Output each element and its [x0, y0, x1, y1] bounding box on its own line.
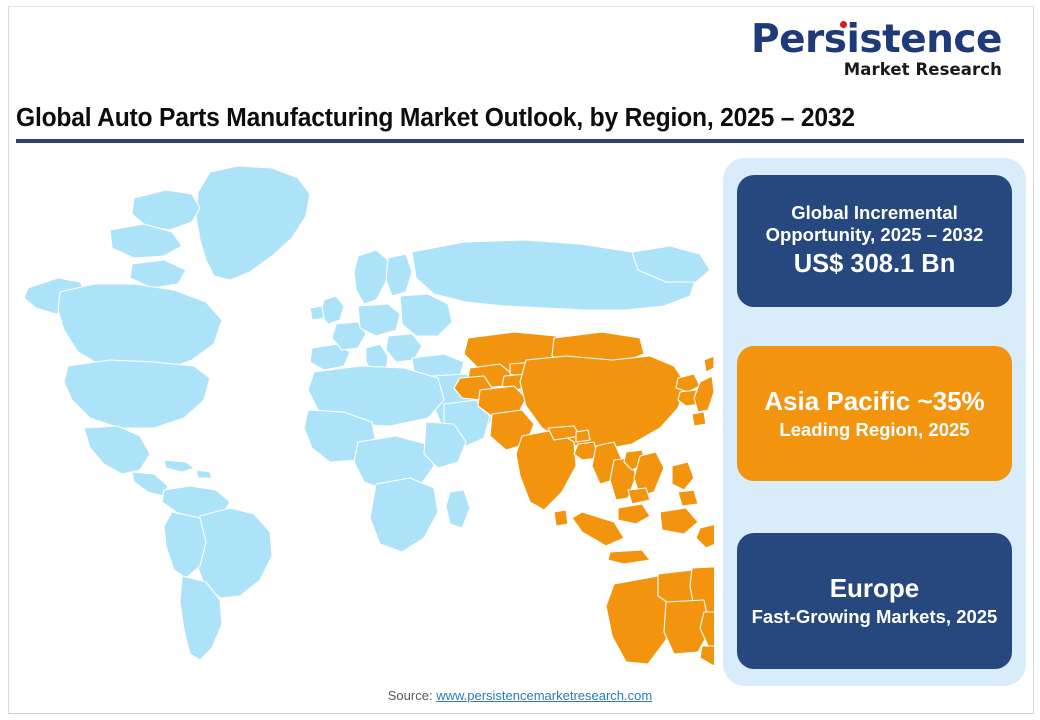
infographic-slide: Persistence Market Research Global Auto … [0, 0, 1040, 720]
country-mexico [84, 426, 150, 474]
country-cambodia [628, 488, 650, 504]
logo-red-dot-icon [840, 21, 847, 28]
logo-wordmark: Persistence [751, 20, 1002, 59]
kpi-panel: Global Incremental Opportunity, 2025 – 2… [723, 158, 1026, 686]
country-bhutan [576, 430, 590, 442]
country-india [516, 430, 576, 510]
title-block: Global Auto Parts Manufacturing Market O… [16, 104, 1026, 143]
country-japan [704, 356, 714, 372]
kpi-card-leading-region: Asia Pacific ~35% Leading Region, 2025 [737, 346, 1012, 481]
company-logo: Persistence Market Research [751, 20, 1002, 79]
country-indonesia-sumatra [572, 512, 624, 546]
country-norway-sweden [354, 250, 388, 304]
kpi-card-value: US$ 308.1 Bn [794, 249, 956, 280]
country-central-america [132, 472, 168, 496]
country-malaysia [618, 504, 650, 524]
country-uk [320, 296, 344, 324]
country-australia-vic [700, 646, 714, 666]
country-usa [64, 360, 210, 428]
country-southern-africa [370, 478, 438, 552]
source-prefix: Source: [388, 688, 436, 703]
country-japan-kyushu [692, 412, 706, 426]
world-map [14, 160, 714, 670]
logo-name: Persistence [751, 17, 1002, 62]
kpi-card-fast-growing-markets: Europe Fast-Growing Markets, 2025 [737, 533, 1012, 669]
source-link[interactable]: www.persistencemarketresearch.com [436, 688, 652, 703]
kpi-card-subtitle: Fast-Growing Markets, 2025 [752, 606, 998, 629]
kpi-card-headline: Europe [830, 573, 920, 605]
logo-tagline: Market Research [751, 62, 1002, 79]
country-sri-lanka [554, 510, 568, 526]
country-finland [386, 254, 412, 296]
country-indonesia-java [608, 550, 650, 564]
country-philippines [672, 462, 694, 490]
country-malaysia-borneo [660, 508, 698, 534]
country-canada [58, 284, 222, 372]
source-line: Source: www.persistencemarketresearch.co… [0, 688, 1040, 703]
country-philippines-south [678, 490, 698, 506]
country-cuba [164, 460, 194, 472]
country-ireland [310, 306, 324, 320]
page-title: Global Auto Parts Manufacturing Market O… [16, 104, 991, 133]
kpi-card-headline: Asia Pacific ~35% [764, 386, 984, 418]
country-hispaniola [196, 470, 212, 478]
kpi-card-label-line1: Global Incremental [791, 202, 958, 225]
kpi-card-label-line2: Opportunity, 2025 – 2032 [766, 224, 984, 247]
country-baltics-ukraine [400, 294, 452, 336]
world-map-svg [14, 160, 714, 670]
country-canada-arctic3 [130, 260, 186, 288]
map-highlighted-countries [454, 332, 714, 670]
country-indonesia-sulawesi [696, 524, 714, 548]
country-madagascar [446, 490, 470, 528]
kpi-card-subtitle: Leading Region, 2025 [779, 419, 969, 442]
title-divider [16, 139, 1024, 143]
country-greenland [196, 166, 310, 280]
kpi-card-global-incremental-opportunity: Global Incremental Opportunity, 2025 – 2… [737, 175, 1012, 307]
